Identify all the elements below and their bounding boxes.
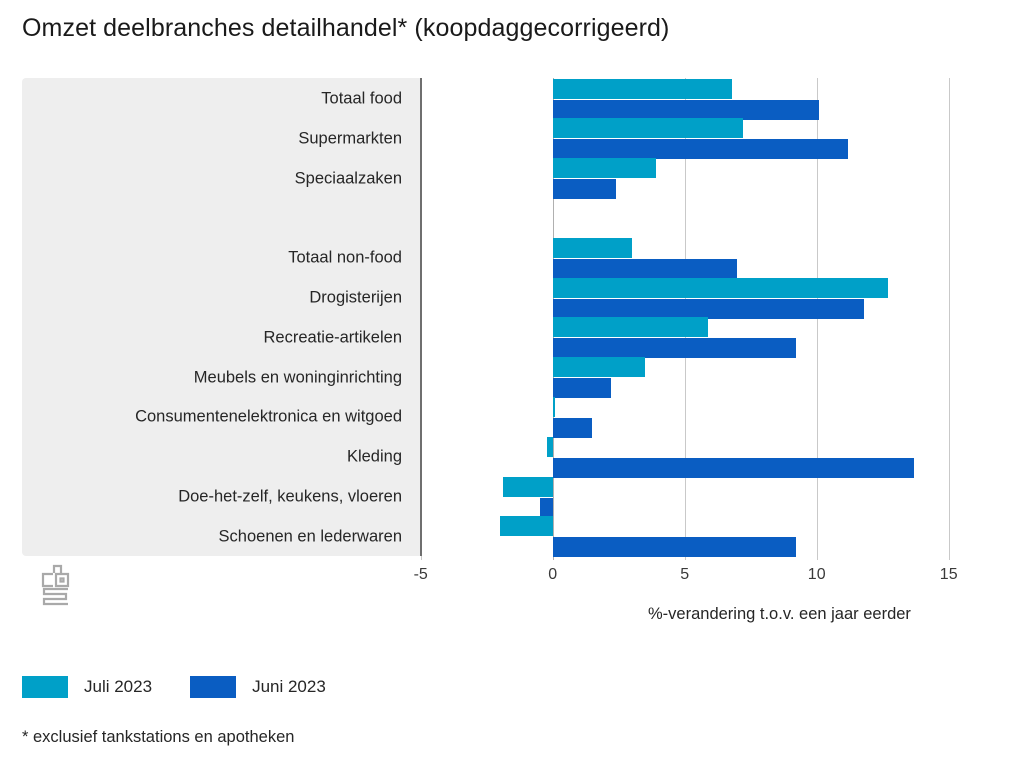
x-tick-label: 15 (940, 566, 958, 584)
plot-area: Totaal foodSupermarktenSpeciaalzakenTota… (0, 78, 1024, 560)
category-label: Doe-het-zelf, keukens, vloeren (0, 488, 420, 507)
bar-juli (553, 118, 743, 138)
category-label: Schoenen en lederwaren (0, 527, 420, 546)
x-axis-title: %-verandering t.o.v. een jaar eerder (648, 605, 911, 624)
x-tick-label: -5 (414, 566, 428, 584)
x-tick-label: 10 (808, 566, 826, 584)
category-label: Consumentenelektronica en witgoed (0, 408, 420, 427)
bar-juli (547, 437, 552, 457)
gridline-15 (949, 78, 950, 560)
chart-legend: Juli 2023 Juni 2023 (22, 676, 326, 698)
category-label: Supermarkten (0, 129, 420, 148)
footnote: * exclusief tankstations en apotheken (22, 728, 294, 747)
bar-juli (553, 158, 656, 178)
bar-juli (553, 317, 709, 337)
bar-juni (540, 498, 553, 518)
bar-juni (553, 179, 616, 199)
category-label: Drogisterijen (0, 289, 420, 308)
bar-juli (503, 477, 553, 497)
bar-juni (553, 418, 593, 438)
x-tick-label: 0 (548, 566, 557, 584)
bar-juni (553, 537, 796, 557)
category-label-panel (22, 78, 420, 556)
category-axis-line (420, 78, 422, 556)
category-label: Meubels en woninginrichting (0, 368, 420, 387)
bar-juni (553, 259, 738, 279)
category-label: Kleding (0, 448, 420, 467)
x-tick-label: 5 (680, 566, 689, 584)
category-label: Totaal non-food (0, 249, 420, 268)
bar-juli (553, 357, 645, 377)
legend-label-juni: Juni 2023 (252, 677, 326, 697)
bar-juni (553, 100, 820, 120)
legend-swatch-juli-icon (22, 676, 68, 698)
category-label: Recreatie-artikelen (0, 328, 420, 347)
bar-juni (553, 139, 849, 159)
cbs-logo-icon (40, 564, 80, 610)
bar-juli (553, 238, 632, 258)
bar-juni (553, 458, 915, 478)
legend-item-juli: Juli 2023 (22, 676, 152, 698)
bar-juli (500, 516, 553, 536)
page-title: Omzet deelbranches detailhandel* (koopda… (22, 14, 669, 43)
legend-label-juli: Juli 2023 (84, 677, 152, 697)
bar-juni (553, 338, 796, 358)
bar-juli (553, 397, 556, 417)
x-axis-line (420, 560, 960, 561)
bar-juli (553, 79, 733, 99)
bar-juni (553, 299, 865, 319)
bar-juni (553, 378, 611, 398)
legend-item-juni: Juni 2023 (190, 676, 326, 698)
legend-swatch-juni-icon (190, 676, 236, 698)
category-label: Totaal food (0, 90, 420, 109)
bar-juli (553, 278, 888, 298)
category-label: Speciaalzaken (0, 169, 420, 188)
chart-root: Omzet deelbranches detailhandel* (koopda… (0, 0, 1024, 768)
